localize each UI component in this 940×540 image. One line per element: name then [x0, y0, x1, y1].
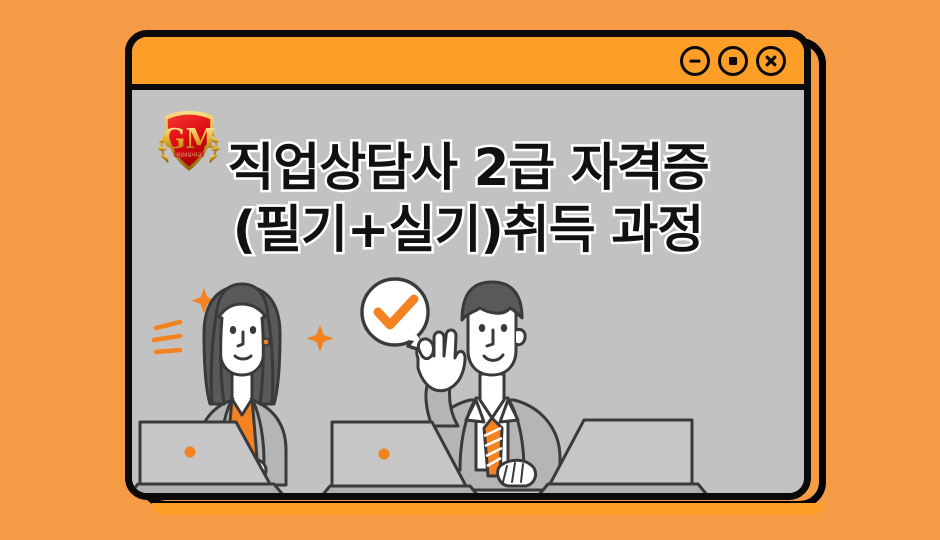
- minimize-icon: [687, 53, 703, 69]
- page-title-line-1: 직업상담사 2급 자격증: [132, 138, 804, 200]
- maximize-button[interactable]: [718, 46, 748, 76]
- laptop-far-right: [538, 420, 708, 496]
- window-stack-shadow: [152, 503, 824, 515]
- minimize-button[interactable]: [680, 46, 710, 76]
- close-icon: [763, 53, 779, 69]
- application-window: GM 직업상담사1급 직업상담사 2급 자격증 (필기+실기)취득 과정: [125, 30, 811, 500]
- window-controls: [680, 46, 786, 76]
- logo-caption: 직업상담사1급: [176, 151, 201, 157]
- illustration-svg: [132, 270, 804, 500]
- window-content: GM 직업상담사1급 직업상담사 2급 자격증 (필기+실기)취득 과정: [132, 90, 804, 500]
- page-title: 직업상담사 2급 자격증 (필기+실기)취득 과정: [132, 138, 804, 262]
- illustration-two-professionals: [132, 270, 804, 500]
- close-button[interactable]: [756, 46, 786, 76]
- speed-lines: [154, 322, 180, 352]
- page-title-line-2: (필기+실기)취득 과정: [132, 200, 804, 262]
- window-titlebar: [132, 37, 804, 90]
- logo-initials: GM: [162, 123, 216, 155]
- brand-logo: GM 직업상담사1급: [150, 104, 228, 180]
- maximize-icon: [725, 53, 741, 69]
- poster-canvas: GM 직업상담사1급 직업상담사 2급 자격증 (필기+실기)취득 과정: [0, 0, 940, 540]
- shield-logo-icon: GM 직업상담사1급: [150, 104, 228, 180]
